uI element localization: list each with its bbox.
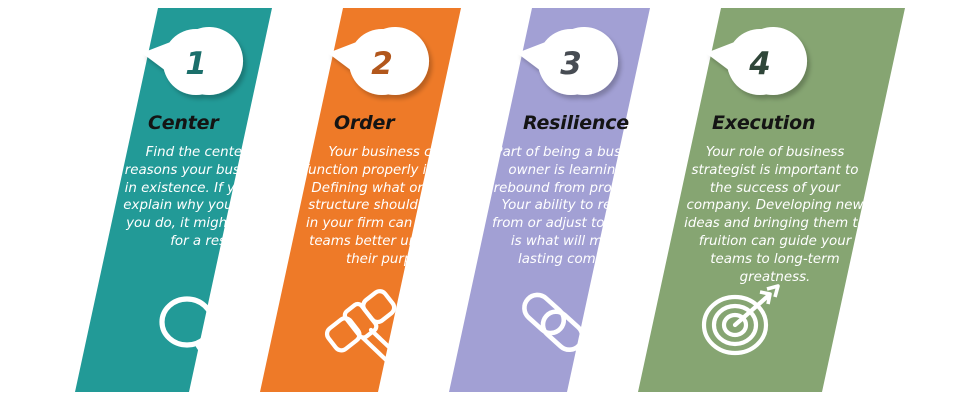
step-number-1: 1 bbox=[185, 46, 207, 82]
infographic-canvas: 1 2 3 4 Center bbox=[0, 0, 980, 400]
step-number-3: 3 bbox=[560, 46, 582, 82]
step-number-2: 2 bbox=[371, 46, 393, 82]
step-number-4: 4 bbox=[748, 46, 771, 82]
infographic-shapes: 1 2 3 4 bbox=[0, 0, 980, 400]
